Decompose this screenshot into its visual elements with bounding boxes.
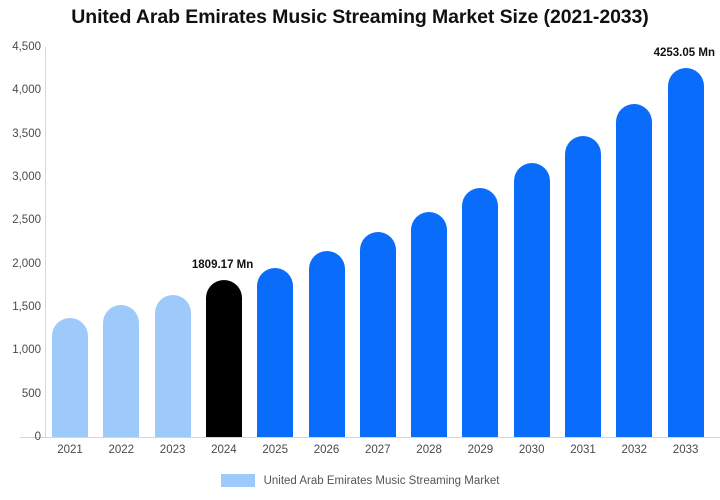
- x-axis-tick-label: 2023: [145, 444, 201, 456]
- x-axis-tick-label: 2032: [606, 444, 662, 456]
- data-label-2033: 4253.05 Mn: [654, 47, 715, 59]
- x-axis-tick-label: 2030: [504, 444, 560, 456]
- x-axis-tick-label: 2024: [196, 444, 252, 456]
- x-axis-tick-label: 2022: [93, 444, 149, 456]
- x-axis-tick-label: 2025: [247, 444, 303, 456]
- x-axis-tick-label: 2021: [42, 444, 98, 456]
- x-axis-tick-label: 2028: [401, 444, 457, 456]
- x-axis-tick-label: 2026: [299, 444, 355, 456]
- x-axis: 2021202220232024202520262027202820292030…: [0, 0, 720, 500]
- bar-chart: United Arab Emirates Music Streaming Mar…: [0, 0, 720, 500]
- x-axis-tick-label: 2033: [658, 444, 714, 456]
- legend-swatch-market: [221, 474, 255, 487]
- x-axis-tick-label: 2027: [350, 444, 406, 456]
- data-label-2024: 1809.17 Mn: [192, 259, 253, 271]
- x-axis-tick-label: 2029: [452, 444, 508, 456]
- chart-legend: United Arab Emirates Music Streaming Mar…: [0, 474, 720, 487]
- x-axis-tick-label: 2031: [555, 444, 611, 456]
- legend-label-market: United Arab Emirates Music Streaming Mar…: [264, 475, 500, 487]
